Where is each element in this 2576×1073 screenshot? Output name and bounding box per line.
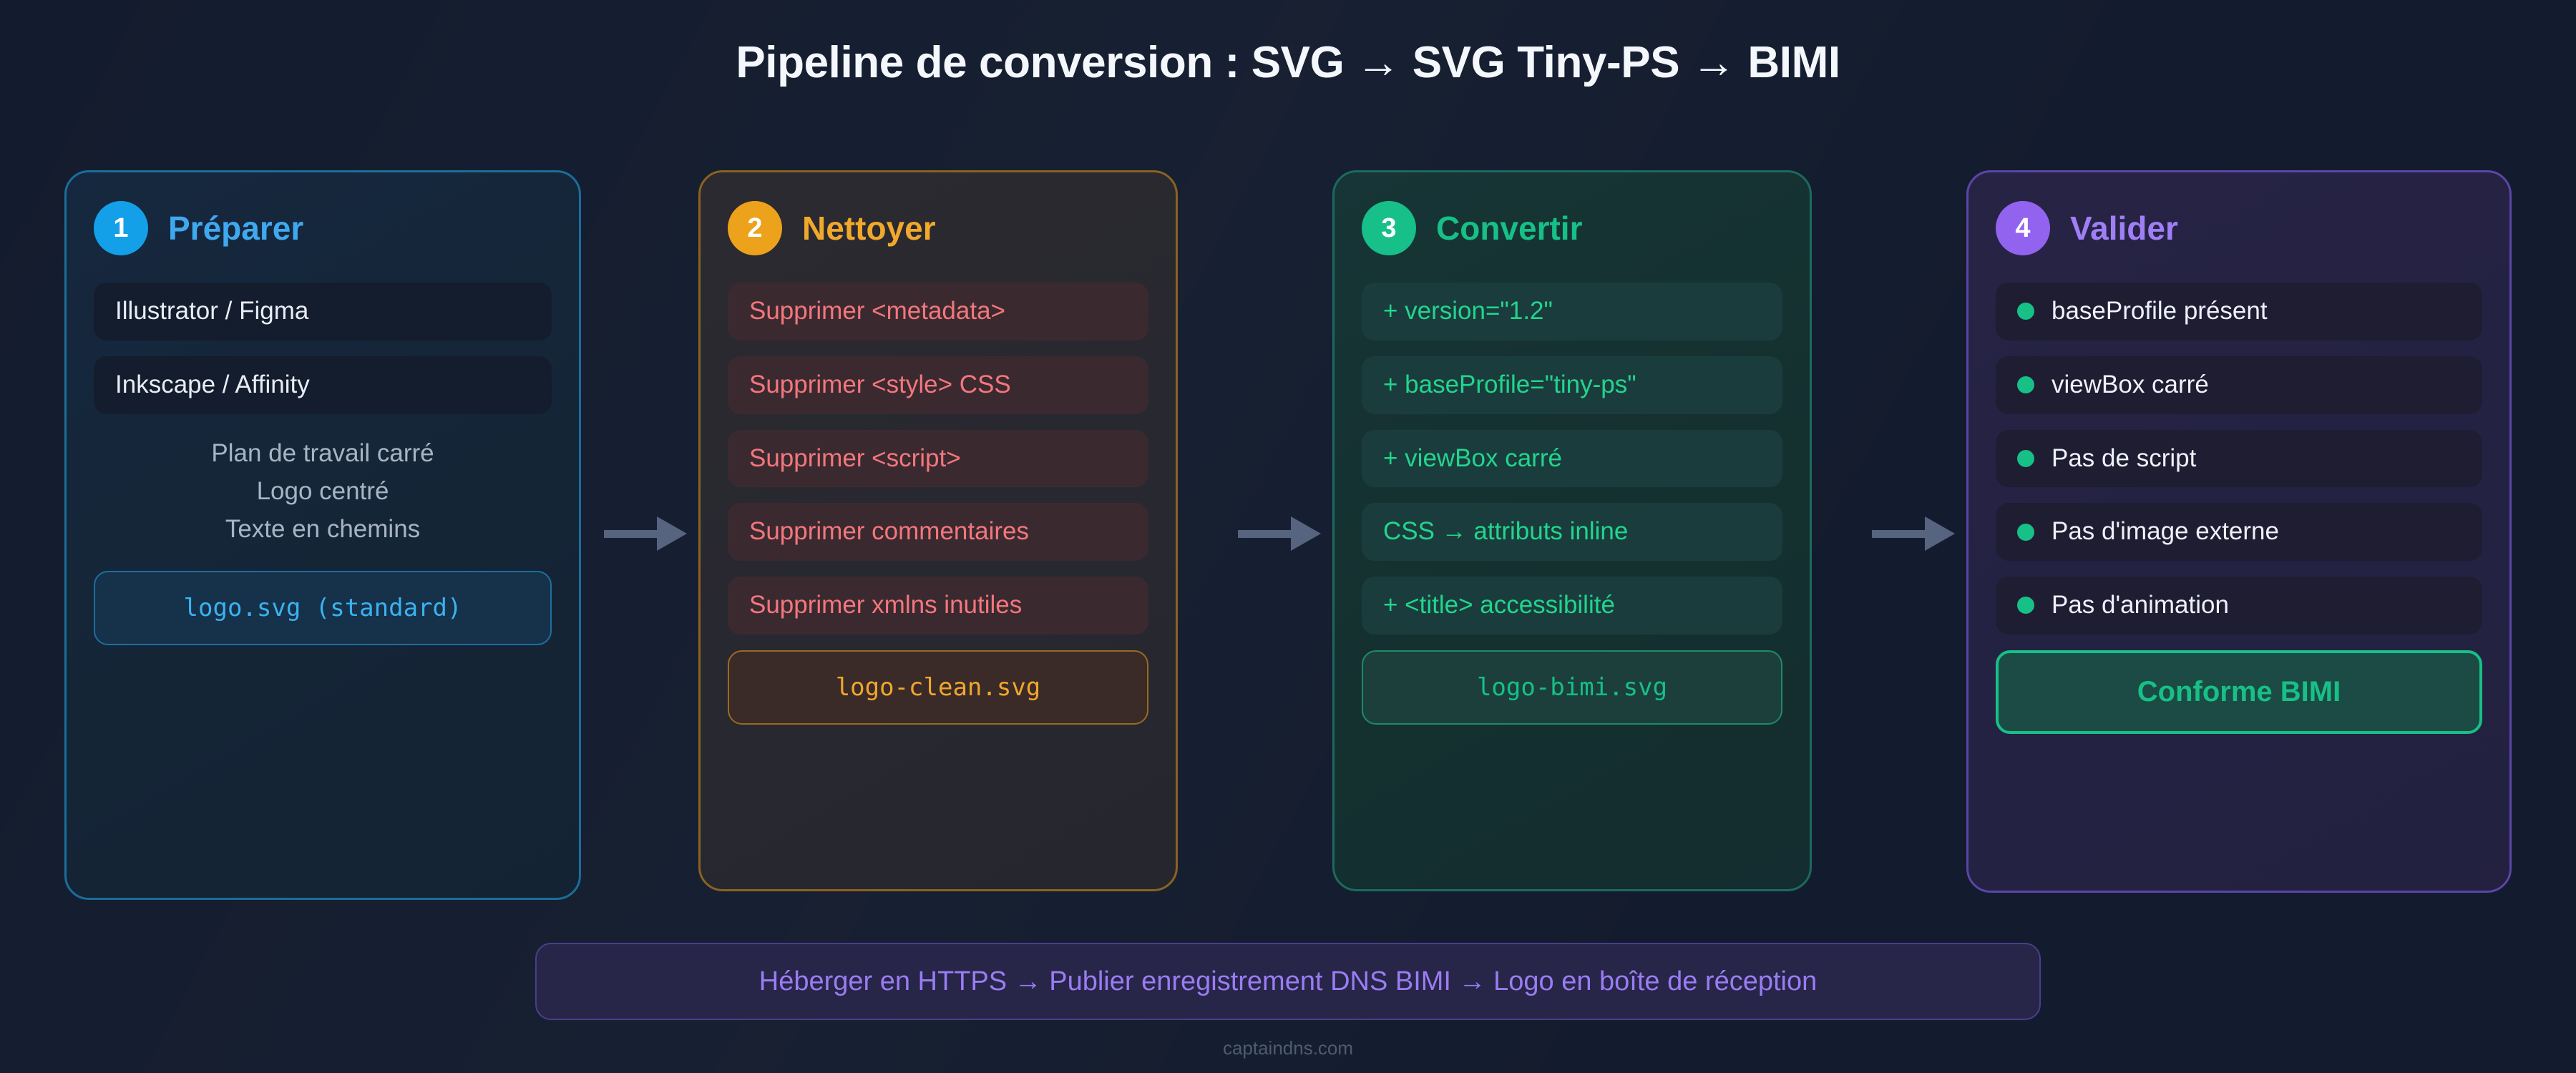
step-card-preparer: 1 Préparer Illustrator / Figma Inkscape …: [64, 170, 581, 900]
list-item[interactable]: + baseProfile="tiny-ps": [1362, 356, 1782, 414]
chip-label: Pas d'image externe: [2051, 519, 2279, 545]
list-item[interactable]: + viewBox carré: [1362, 430, 1782, 488]
output-file-box: logo.svg (standard): [94, 571, 552, 645]
output-file-box: logo-bimi.svg: [1362, 650, 1782, 725]
page-title: Pipeline de conversion : SVG → SVG Tiny-…: [0, 37, 2576, 88]
list-item[interactable]: + <title> accessibilité: [1362, 577, 1782, 635]
output-file-box: logo-clean.svg: [728, 650, 1148, 725]
chip-label: Supprimer xmlns inutiles: [749, 592, 1022, 619]
list-item[interactable]: Supprimer <script>: [728, 430, 1148, 488]
list-item[interactable]: Pas de script: [1996, 430, 2482, 488]
chip-label: Illustrator / Figma: [115, 298, 308, 325]
chip-label: baseProfile présent: [2051, 298, 2268, 325]
chip-label: + baseProfile="tiny-ps": [1383, 372, 1636, 398]
step-card-valider: 4 Valider baseProfile présent viewBox ca…: [1966, 170, 2512, 893]
chip-label: + version="1.2": [1383, 298, 1553, 325]
status-dot-icon: [2017, 303, 2034, 320]
list-item[interactable]: Supprimer <style> CSS: [728, 356, 1148, 414]
note-line: Texte en chemins: [94, 510, 552, 548]
note-line: Logo centré: [94, 472, 552, 510]
list-item[interactable]: Pas d'image externe: [1996, 503, 2482, 561]
chip-label: viewBox carré: [2051, 372, 2209, 398]
chip-label: Pas d'animation: [2051, 592, 2229, 619]
step-title: Nettoyer: [802, 209, 936, 248]
step-notes: Plan de travail carré Logo centré Texte …: [94, 434, 552, 549]
arrow-right-icon: [1872, 514, 1955, 554]
list-item[interactable]: Inkscape / Affinity: [94, 356, 552, 414]
list-item[interactable]: viewBox carré: [1996, 356, 2482, 414]
watermark: captaindns.com: [0, 1037, 2576, 1059]
step-number-badge: 3: [1362, 201, 1416, 255]
arrow-right-icon: [1238, 514, 1321, 554]
arrow-head: [1925, 516, 1955, 551]
step-card-convertir: 3 Convertir + version="1.2" + baseProfil…: [1332, 170, 1812, 891]
arrow-head: [1291, 516, 1321, 551]
list-item[interactable]: + version="1.2": [1362, 283, 1782, 340]
list-item[interactable]: Pas d'animation: [1996, 577, 2482, 635]
card-header: 3 Convertir: [1362, 201, 1782, 255]
status-badge: Conforme BIMI: [1996, 650, 2482, 734]
chip-label: + <title> accessibilité: [1383, 592, 1615, 619]
step-card-nettoyer: 2 Nettoyer Supprimer <metadata> Supprime…: [698, 170, 1178, 891]
chip-label: + viewBox carré: [1383, 446, 1562, 472]
arrow-head: [657, 516, 687, 551]
arrow-shaft: [1238, 530, 1295, 538]
status-dot-icon: [2017, 376, 2034, 393]
card-header: 4 Valider: [1996, 201, 2482, 255]
chip-label: Supprimer <style> CSS: [749, 372, 1011, 398]
list-item[interactable]: Supprimer xmlns inutiles: [728, 577, 1148, 635]
chip-label: CSS → attributs inline: [1383, 519, 1628, 545]
list-item[interactable]: baseProfile présent: [1996, 283, 2482, 340]
chip-label: Supprimer commentaires: [749, 519, 1029, 545]
arrow-shaft: [1872, 530, 1929, 538]
step-title: Valider: [2070, 209, 2178, 248]
chip-label: Supprimer <metadata>: [749, 298, 1005, 325]
status-dot-icon: [2017, 597, 2034, 614]
step-number-badge: 1: [94, 201, 148, 255]
step-title: Préparer: [168, 209, 303, 248]
footer-banner: Héberger en HTTPS → Publier enregistreme…: [535, 943, 2041, 1020]
step-number-badge: 2: [728, 201, 782, 255]
card-header: 1 Préparer: [94, 201, 552, 255]
status-dot-icon: [2017, 450, 2034, 467]
pipeline-board: 1 Préparer Illustrator / Figma Inkscape …: [64, 170, 2512, 901]
list-item[interactable]: CSS → attributs inline: [1362, 503, 1782, 561]
card-header: 2 Nettoyer: [728, 201, 1148, 255]
arrow-right-icon: [604, 514, 687, 554]
step-number-badge: 4: [1996, 201, 2050, 255]
list-item[interactable]: Supprimer <metadata>: [728, 283, 1148, 340]
chip-label: Pas de script: [2051, 446, 2196, 472]
list-item[interactable]: Illustrator / Figma: [94, 283, 552, 340]
chip-label: Inkscape / Affinity: [115, 372, 310, 398]
chip-label: Supprimer <script>: [749, 446, 961, 472]
list-item[interactable]: Supprimer commentaires: [728, 503, 1148, 561]
step-title: Convertir: [1436, 209, 1582, 248]
arrow-shaft: [604, 530, 661, 538]
status-dot-icon: [2017, 524, 2034, 541]
footer-banner-text: Héberger en HTTPS → Publier enregistreme…: [759, 966, 1818, 997]
note-line: Plan de travail carré: [94, 434, 552, 472]
